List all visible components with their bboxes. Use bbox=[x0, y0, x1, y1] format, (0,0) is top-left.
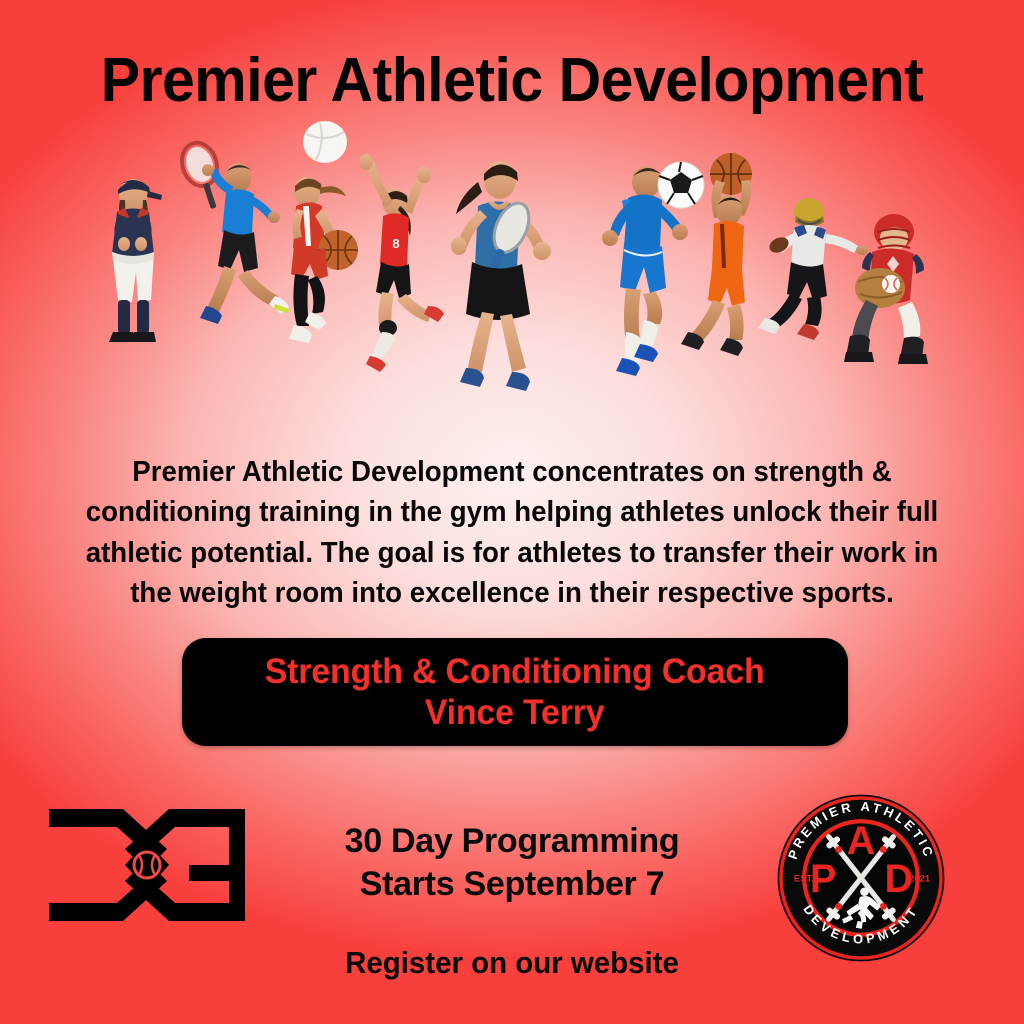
svg-text:8: 8 bbox=[392, 236, 399, 251]
badge-letter-d: D bbox=[885, 857, 914, 901]
description-paragraph: Premier Athletic Development concentrate… bbox=[66, 452, 958, 614]
soccer-ball bbox=[658, 162, 704, 208]
xg-g-bar bbox=[189, 865, 245, 881]
catchers-mitt bbox=[855, 268, 905, 308]
athlete-basketball-female bbox=[289, 177, 358, 343]
athlete-baseball-batter bbox=[109, 179, 162, 342]
program-info: 30 Day Programming Starts September 7 bbox=[262, 820, 762, 906]
program-duration: 30 Day Programming bbox=[262, 820, 762, 863]
page-title: Premier Athletic Development bbox=[26, 48, 999, 113]
athlete-collage: 8 bbox=[0, 120, 1024, 440]
athlete-baseball-catcher bbox=[844, 214, 928, 364]
athlete-tennis-male bbox=[177, 138, 289, 324]
program-start-date: Starts September 7 bbox=[262, 863, 762, 906]
volleyball-ball bbox=[303, 121, 347, 163]
athlete-tennis-female bbox=[451, 161, 551, 391]
badge-letter-a: A bbox=[847, 819, 876, 863]
coach-banner: Strength & Conditioning Coach Vince Terr… bbox=[182, 638, 848, 746]
register-callout: Register on our website bbox=[275, 945, 750, 981]
coach-role: Strength & Conditioning Coach bbox=[265, 651, 765, 692]
athlete-volleyball-spiker: 8 bbox=[359, 154, 444, 372]
xg-logo bbox=[47, 795, 247, 935]
pad-logo-badge: PREMIER ATHLETIC DEVELOPMENT EST. 2021 bbox=[775, 792, 947, 964]
coach-name: Vince Terry bbox=[425, 692, 605, 733]
athlete-football-player bbox=[758, 198, 868, 340]
badge-letter-p: P bbox=[810, 857, 836, 901]
xg-g-lower bbox=[229, 881, 245, 921]
xg-g-upper bbox=[229, 809, 245, 865]
poster-canvas: Premier Athletic Development bbox=[0, 0, 1024, 1024]
